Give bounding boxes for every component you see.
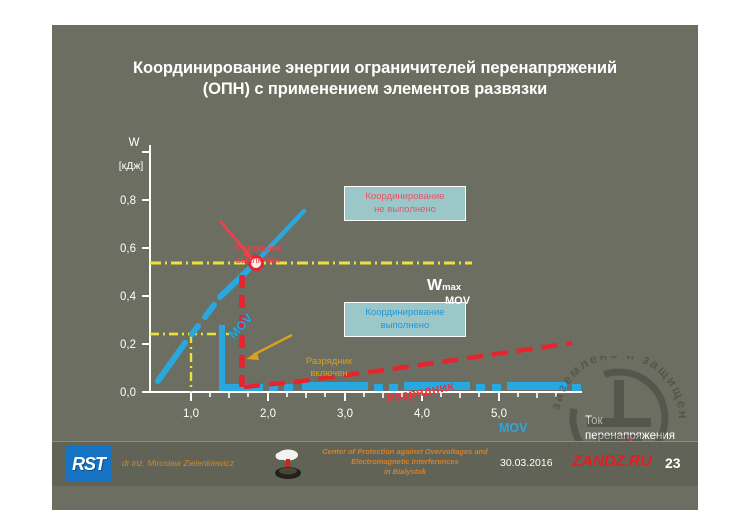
y-tick-labels: 0,0 0,2 0,4 0,6 0,8 — [120, 195, 137, 399]
annotation-arrester-on: Разрядник включен — [289, 356, 369, 380]
page-number: 23 — [665, 455, 681, 471]
x-tick-labels: 1,0 2,0 3,0 4,0 5,0 — [183, 408, 507, 420]
y-axis-ticks — [142, 152, 150, 392]
wmax-mov-label: Wmax MOV — [427, 277, 470, 307]
anno-on-line2: включен — [289, 368, 369, 380]
callout-failed-line1: Координирование — [351, 191, 459, 204]
svg-text:5,0: 5,0 — [491, 408, 507, 420]
series-label-mov-baseline: MOV — [499, 421, 527, 435]
callout-coordination-ok: Координирование выполнено — [344, 302, 466, 337]
lightning-cloud-icon — [270, 446, 306, 482]
callout-ok-line2: выполнено — [351, 320, 459, 333]
anno-on-line1: Разрядник — [289, 356, 369, 368]
svg-text:0,2: 0,2 — [120, 339, 136, 351]
annotation-arrow-on — [246, 335, 292, 360]
centre-line2: Electromagnetic Interferences — [305, 457, 505, 467]
svg-text:3,0: 3,0 — [337, 408, 353, 420]
svg-text:2,0: 2,0 — [260, 408, 276, 420]
author-name: dr inz. Mirosław Zielenkiewicz — [122, 458, 234, 468]
callout-ok-line1: Координирование — [351, 307, 459, 320]
svg-text:0,6: 0,6 — [120, 243, 136, 255]
svg-text:1,0: 1,0 — [183, 408, 199, 420]
anno-off-line2: выключен — [218, 255, 298, 267]
callout-coordination-failed: Координирование не выполнено — [344, 186, 466, 221]
svg-text:0,0: 0,0 — [120, 387, 136, 399]
y-axis-title: W [кДж] — [119, 137, 144, 172]
x-axis-major-ticks — [191, 392, 499, 401]
wmax-superscript: max — [442, 282, 461, 293]
centre-line1: Center of Protection against Overvoltage… — [305, 447, 505, 457]
center-of-protection-caption: Center of Protection against Overvoltage… — [305, 447, 505, 477]
anno-off-line1: Разрядник — [218, 243, 298, 255]
slide-footer: RST dr inz. Mirosław Zielenkiewicz Cente… — [52, 441, 698, 486]
callout-failed-line2: не выполнено — [351, 204, 459, 217]
svg-text:4,0: 4,0 — [414, 408, 430, 420]
svg-text:W: W — [129, 137, 140, 149]
wmax-symbol: W — [427, 277, 442, 294]
svg-text:[кДж]: [кДж] — [119, 160, 144, 172]
slide-canvas: Координирование энергии ограничителей пе… — [52, 25, 698, 510]
chart-axes — [150, 145, 582, 392]
centre-line3: in Bialystok — [305, 467, 505, 477]
zandz-brand-footer: ZANDZ.RU — [572, 453, 651, 471]
threshold-level-lines — [150, 334, 229, 392]
presentation-date: 30.03.2016 — [500, 457, 553, 469]
rst-logo-text: RST — [72, 454, 105, 475]
svg-text:0,4: 0,4 — [120, 291, 137, 303]
series-mov-rising — [158, 211, 304, 381]
rst-logo: RST — [65, 446, 112, 482]
wmax-subscript: MOV — [445, 295, 470, 307]
svg-text:0,8: 0,8 — [120, 195, 136, 207]
annotation-arrester-off: Разрядник выключен — [218, 243, 298, 267]
